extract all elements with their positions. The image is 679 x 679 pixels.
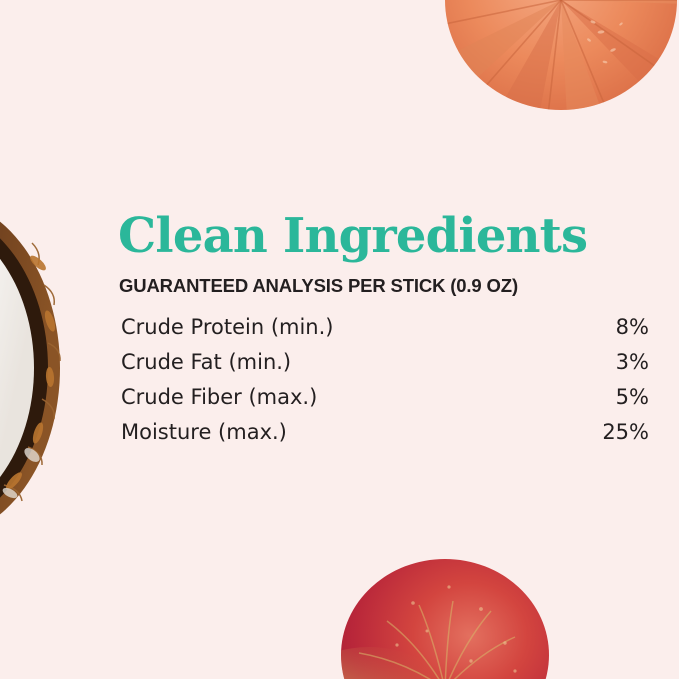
nutrient-value: 3%	[554, 346, 650, 381]
nutrient-value: 25%	[554, 415, 650, 450]
guaranteed-analysis-subheading: GUARANTEED ANALYSIS PER STICK (0.9 OZ)	[119, 275, 650, 297]
table-row: Crude Protein (min.) 8%	[118, 311, 650, 346]
nutrient-label: Crude Fat (min.)	[118, 346, 554, 381]
nutrient-value: 5%	[554, 380, 650, 415]
apple-image	[339, 539, 551, 679]
nutrient-value: 8%	[554, 311, 650, 346]
nutrient-label: Crude Fiber (max.)	[118, 380, 554, 415]
table-row: Crude Fiber (max.) 5%	[118, 380, 650, 415]
nutrient-label: Crude Protein (min.)	[118, 311, 554, 346]
page-title: Clean Ingredients	[118, 212, 650, 261]
product-info-panel: Clean Ingredients GUARANTEED ANALYSIS PE…	[0, 0, 679, 679]
nutrient-label: Moisture (max.)	[118, 415, 554, 450]
guaranteed-analysis-table: Crude Protein (min.) 8% Crude Fat (min.)…	[118, 311, 650, 450]
coconut-image	[0, 193, 68, 543]
table-row: Moisture (max.) 25%	[118, 415, 650, 450]
pumpkin-image	[443, 0, 679, 140]
table-row: Crude Fat (min.) 3%	[118, 346, 650, 381]
clean-ingredients-section: Clean Ingredients GUARANTEED ANALYSIS PE…	[118, 212, 650, 450]
